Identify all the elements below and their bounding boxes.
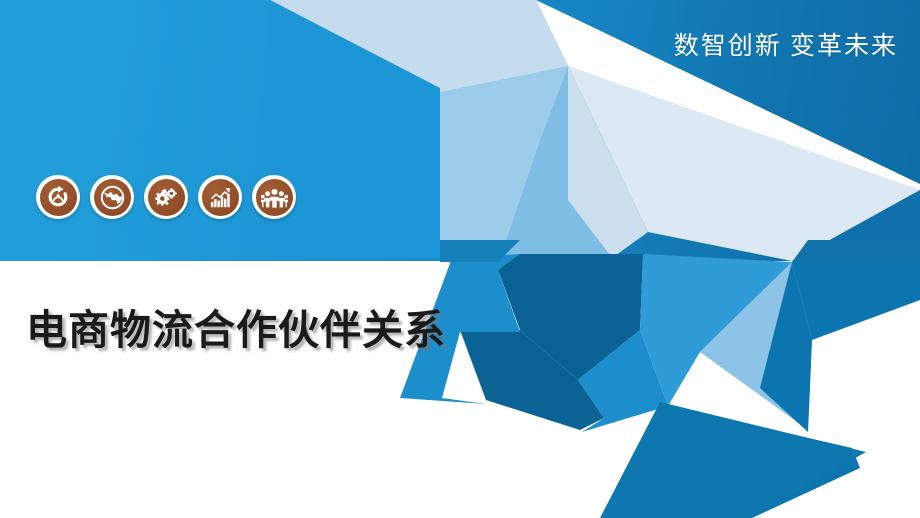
page-title: 电商物流合作伙伴关系	[26, 296, 446, 356]
poly-band-edge-right	[792, 240, 920, 262]
icon-badge-chart[interactable]	[198, 175, 242, 219]
icon-badge-recycle[interactable]	[36, 175, 80, 219]
icon-badge-team[interactable]	[252, 175, 296, 219]
icon-badge-globe[interactable]	[90, 175, 134, 219]
team-group-icon	[256, 179, 293, 216]
globe-icon	[94, 179, 131, 216]
polygon-artwork	[0, 0, 920, 518]
poly-bottom-ribbon-main	[600, 402, 866, 518]
recycle-arrow-icon	[40, 179, 77, 216]
slide-canvas: 数智创新 变革未来	[0, 0, 920, 518]
icon-badge-gears[interactable]	[144, 175, 188, 219]
bar-chart-growth-icon	[202, 179, 239, 216]
gears-icon	[148, 179, 185, 216]
slide-tagline: 数智创新 变革未来	[674, 26, 898, 62]
feature-icon-row	[36, 175, 296, 219]
